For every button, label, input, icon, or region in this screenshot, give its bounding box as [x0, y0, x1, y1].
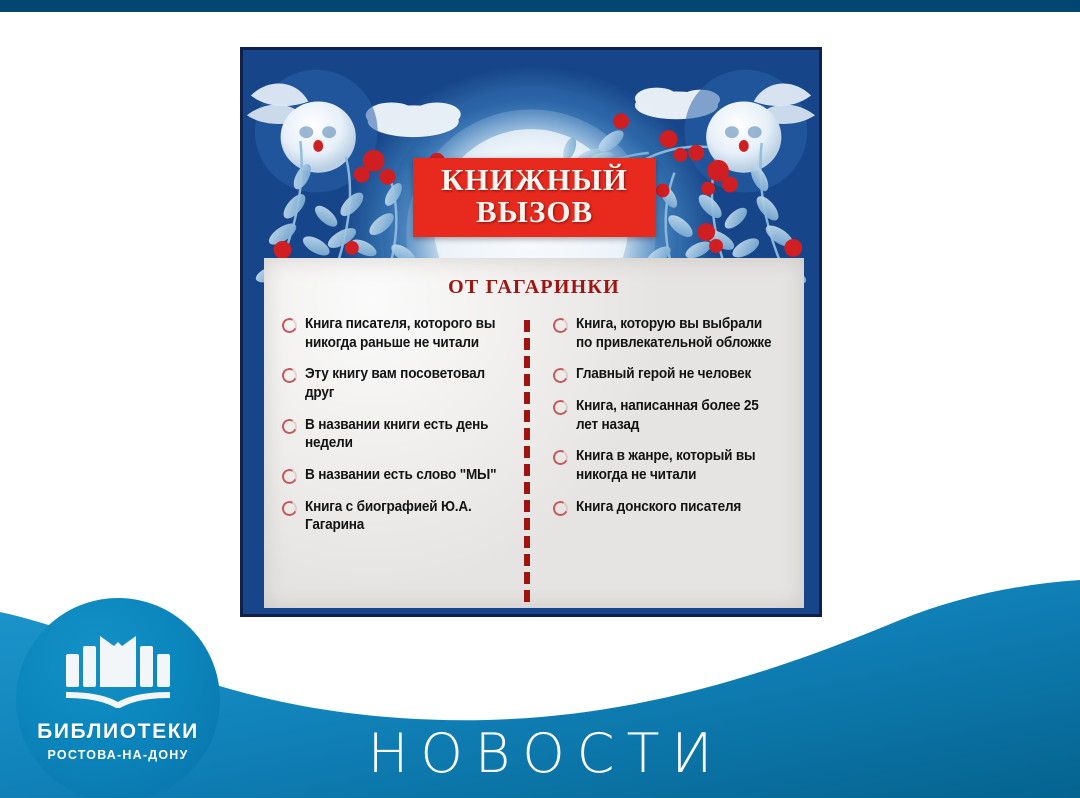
slide-canvas: КНИЖНЫЙ ВЫЗОВ ОТ ГАГАРИНКИ Книга писател… [0, 0, 1080, 798]
list-item-label: Эту книгу вам посоветовал друг [305, 365, 504, 402]
list-item: Книга в жанре, который вы никогда не чит… [553, 447, 790, 484]
poster-image: КНИЖНЫЙ ВЫЗОВ ОТ ГАГАРИНКИ Книга писател… [240, 47, 822, 617]
open-book-icon [62, 628, 174, 714]
circle-bullet-icon [280, 366, 299, 385]
poster-title-line2: ВЫЗОВ [413, 196, 656, 228]
list-item: Книга, которую вы выбрали по привлекател… [553, 315, 790, 352]
list-item-label: Книга донского писателя [576, 498, 741, 517]
circle-bullet-icon [551, 448, 570, 467]
poster-title-banner: КНИЖНЫЙ ВЫЗОВ [413, 158, 656, 237]
circle-bullet-icon [280, 417, 299, 436]
circle-bullet-icon [551, 316, 570, 335]
circle-bullet-icon [280, 499, 299, 518]
list-item: Книга донского писателя [553, 498, 790, 517]
list-item-label: Главный герой не человек [576, 365, 751, 384]
circle-bullet-icon [280, 467, 299, 486]
circle-bullet-icon [551, 366, 570, 385]
list-item-label: Книга с биографией Ю.А. Гагарина [305, 498, 504, 535]
circle-bullet-icon [551, 398, 570, 417]
panel-heading: ОТ ГАГАРИНКИ [264, 258, 804, 299]
challenge-column-right: Книга, которую вы выбрали по привлекател… [529, 315, 804, 600]
list-item: Эту книгу вам посоветовал друг [282, 365, 519, 402]
list-item: В названии книги есть день недели [282, 416, 519, 453]
list-item-label: Книга, написанная более 25 лет назад [576, 397, 775, 434]
top-accent-bar [0, 0, 1080, 12]
news-banner-label: НОВОСТИ [0, 727, 1080, 781]
list-item-label: В названии есть слово "МЫ" [305, 466, 496, 485]
circle-bullet-icon [280, 316, 299, 335]
list-item: Книга писателя, которого вы никогда рань… [282, 315, 519, 352]
list-item: Книга с биографией Ю.А. Гагарина [282, 498, 519, 535]
list-item: Книга, написанная более 25 лет назад [553, 397, 790, 434]
owl-right [684, 70, 815, 193]
list-item-label: В названии книги есть день недели [305, 416, 504, 453]
challenge-columns: Книга писателя, которого вы никогда рань… [264, 315, 804, 600]
challenge-panel: ОТ ГАГАРИНКИ Книга писателя, которого вы… [264, 258, 804, 608]
challenge-column-left: Книга писателя, которого вы никогда рань… [264, 315, 529, 600]
list-item: Главный герой не человек [553, 365, 790, 384]
poster-title-line1: КНИЖНЫЙ [413, 164, 656, 196]
list-item: В названии есть слово "МЫ" [282, 466, 519, 485]
list-item-label: Книга писателя, которого вы никогда рань… [305, 315, 504, 352]
circle-bullet-icon [551, 499, 570, 518]
list-item-label: Книга в жанре, который вы никогда не чит… [576, 447, 775, 484]
list-item-label: Книга, которую вы выбрали по привлекател… [576, 315, 775, 352]
